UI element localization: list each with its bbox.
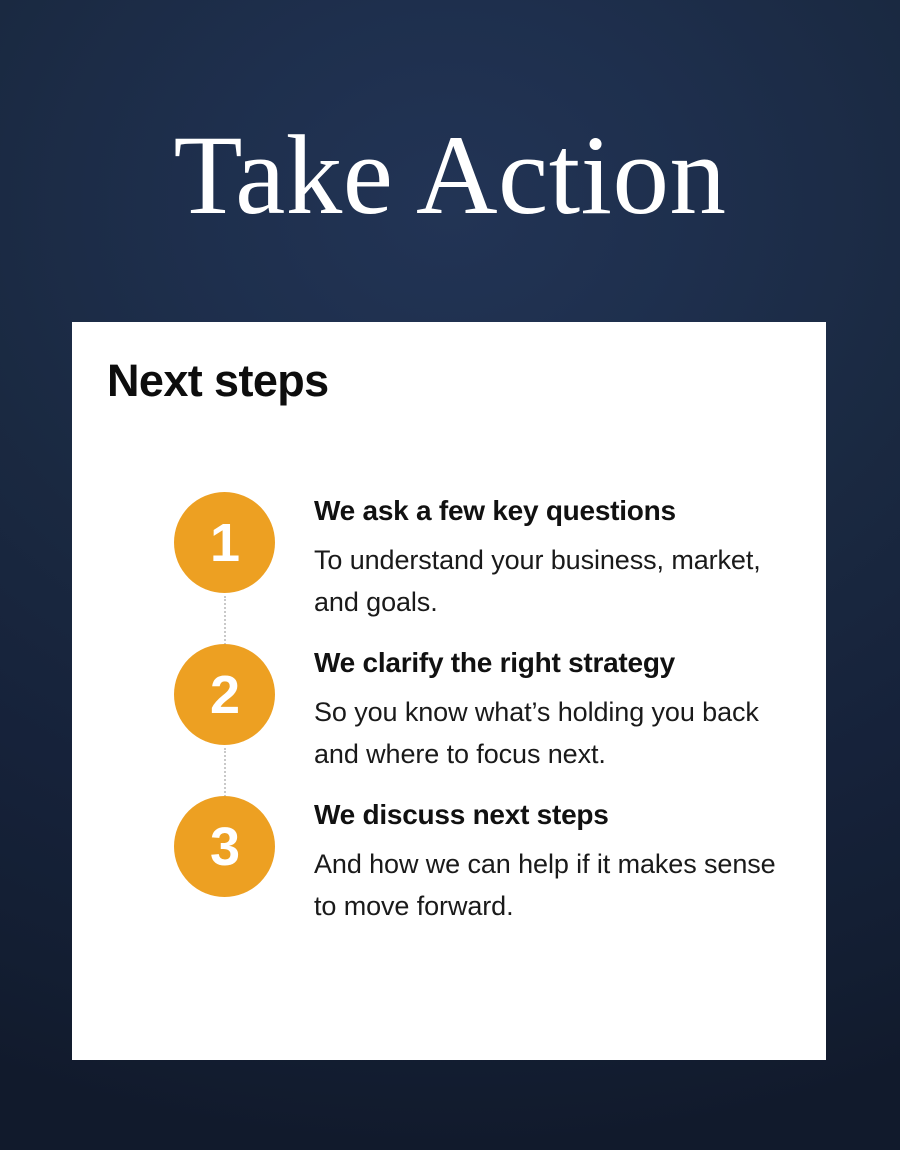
step-content: We clarify the right strategy So you kno… <box>275 644 802 776</box>
next-steps-card: Next steps 1 We ask a few key questions … <box>72 322 826 1060</box>
step-number-badge: 1 <box>174 492 275 593</box>
step-description: To understand your business, market, and… <box>314 539 802 624</box>
steps-list: 1 We ask a few key questions To understa… <box>102 492 802 928</box>
step-title: We clarify the right strategy <box>314 646 802 680</box>
step-content: We ask a few key questions To understand… <box>275 492 802 624</box>
step-description: So you know what’s holding you back and … <box>314 691 802 776</box>
slide-title: Take Action <box>0 119 900 232</box>
step-number-badge: 2 <box>174 644 275 745</box>
step-number-badge: 3 <box>174 796 275 897</box>
step-item: 1 We ask a few key questions To understa… <box>102 492 802 644</box>
slide-background: Take Action Next steps 1 We ask a few ke… <box>0 0 900 1150</box>
step-title: We discuss next steps <box>314 798 802 832</box>
step-title: We ask a few key questions <box>314 494 802 528</box>
step-item: 2 We clarify the right strategy So you k… <box>102 644 802 796</box>
step-description: And how we can help if it makes sense to… <box>314 843 802 928</box>
step-content: We discuss next steps And how we can hel… <box>275 796 802 928</box>
card-heading: Next steps <box>107 356 329 406</box>
step-item: 3 We discuss next steps And how we can h… <box>102 796 802 928</box>
